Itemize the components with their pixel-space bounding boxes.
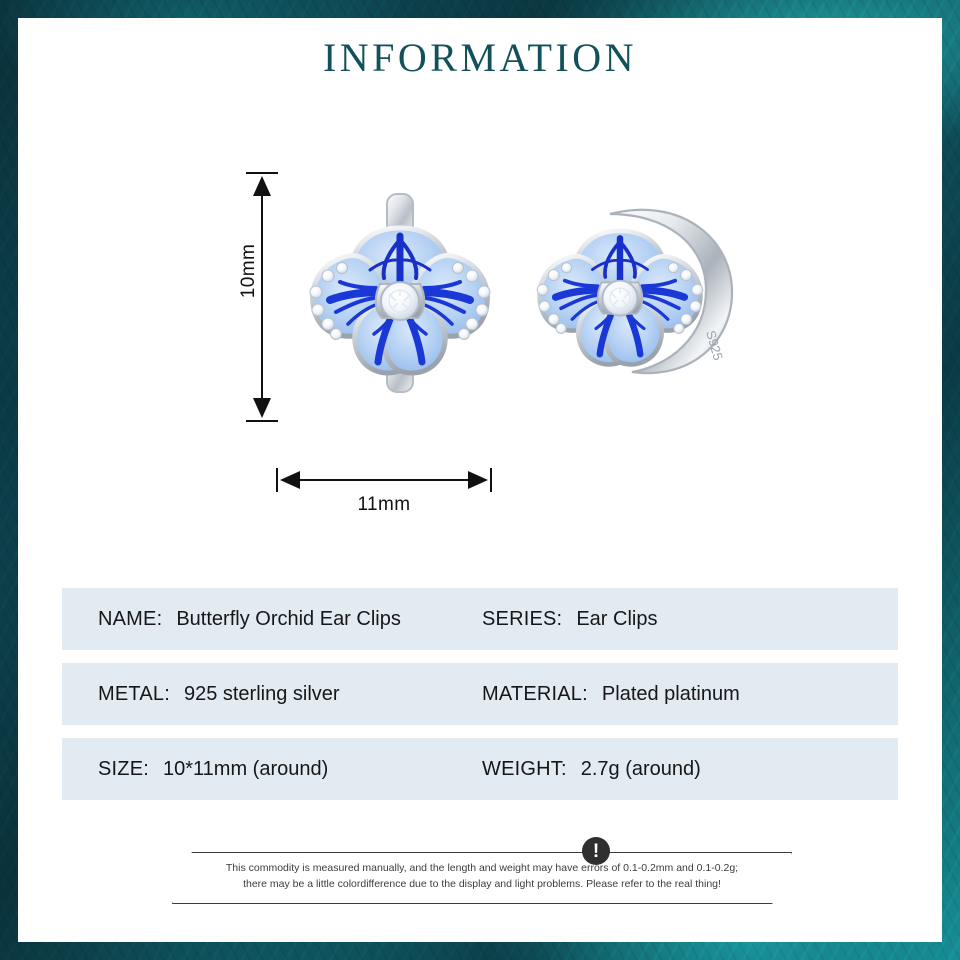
table-row: SIZE: 10*11mm (around) WEIGHT: 2.7g (aro… <box>62 738 898 800</box>
spec-cell-weight: WEIGHT: 2.7g (around) <box>482 758 898 781</box>
arrow-right-icon <box>468 471 488 489</box>
arrow-down-icon <box>253 398 271 418</box>
dimension-tick-bottom <box>246 420 278 422</box>
table-row: NAME: Butterfly Orchid Ear Clips SERIES:… <box>62 588 898 650</box>
spec-key: NAME: <box>98 608 162 631</box>
dimension-height-label: 10mm <box>238 216 260 326</box>
arrow-up-icon <box>253 176 271 196</box>
exclamation-glyph: ! <box>593 842 599 861</box>
disclaimer-line-2: there may be a little colordifference du… <box>206 876 758 892</box>
spec-key: METAL: <box>98 683 170 706</box>
dimension-width: 11mm <box>276 466 492 526</box>
dimension-tick-right <box>490 468 492 492</box>
left-earring <box>310 194 490 392</box>
spec-cell-material: MATERIAL: Plated platinum <box>482 683 898 706</box>
dimension-tick-top <box>246 172 278 174</box>
spec-cell-name: NAME: Butterfly Orchid Ear Clips <box>62 608 482 631</box>
page-title: INFORMATION <box>0 34 960 81</box>
right-earring: S925 <box>537 210 732 373</box>
spec-value: 10*11mm (around) <box>163 758 328 781</box>
spec-value: 925 sterling silver <box>184 683 340 706</box>
spec-value: Ear Clips <box>576 608 657 631</box>
spec-cell-series: SERIES: Ear Clips <box>482 608 898 631</box>
disclaimer-box: This commodity is measured manually, and… <box>172 852 792 904</box>
spec-value: Plated platinum <box>602 683 740 706</box>
spec-cell-metal: METAL: 925 sterling silver <box>62 683 482 706</box>
dimension-shaft-horizontal <box>284 479 484 481</box>
spec-key: SIZE: <box>98 758 149 781</box>
dimension-width-label: 11mm <box>276 494 492 516</box>
arrow-left-icon <box>280 471 300 489</box>
earrings-illustration: S925 <box>250 160 790 440</box>
spec-key: WEIGHT: <box>482 758 567 781</box>
table-row: METAL: 925 sterling silver MATERIAL: Pla… <box>62 663 898 725</box>
dimension-height: 10mm <box>232 172 292 422</box>
exclamation-icon: ! <box>582 837 610 865</box>
spec-table: NAME: Butterfly Orchid Ear Clips SERIES:… <box>62 588 898 813</box>
dimension-shaft-vertical <box>261 180 263 414</box>
disclaimer-text: This commodity is measured manually, and… <box>206 860 758 893</box>
spec-key: SERIES: <box>482 608 562 631</box>
disclaimer-line-1: This commodity is measured manually, and… <box>206 860 758 876</box>
spec-key: MATERIAL: <box>482 683 588 706</box>
product-image: S925 <box>250 160 790 440</box>
spec-value: Butterfly Orchid Ear Clips <box>176 608 401 631</box>
spec-cell-size: SIZE: 10*11mm (around) <box>62 758 482 781</box>
dimension-tick-left <box>276 468 278 492</box>
information-graphic: INFORMATION <box>0 0 960 960</box>
spec-value: 2.7g (around) <box>581 758 701 781</box>
